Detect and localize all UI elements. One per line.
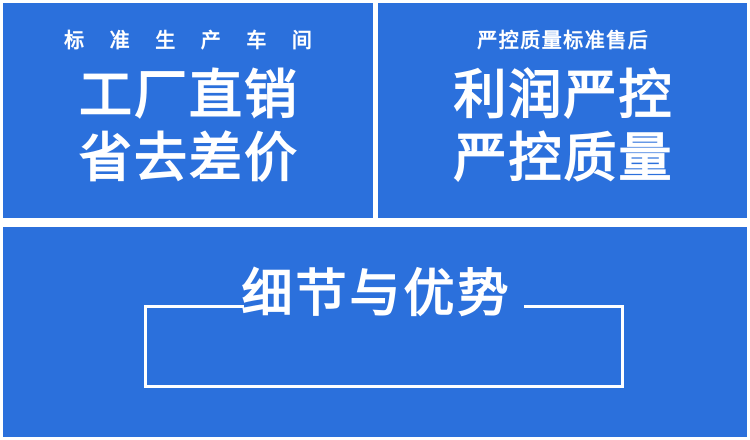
panel-left-headline-line2: 省去差价 — [77, 130, 299, 187]
panel-quality-control: 严控质量标准售后 利润严控 严控质量 — [378, 3, 747, 218]
detail-title: 细节与优势 — [3, 268, 747, 319]
panel-right-headline-line1: 利润严控 — [452, 67, 674, 124]
panel-left-eyebrow: 标 准 生 产 车 间 — [54, 31, 322, 51]
panel-left-headline-line1: 工厂直销 — [77, 67, 299, 124]
panel-factory-direct: 标 准 生 产 车 间 工厂直销 省去差价 — [3, 3, 373, 218]
promo-banner: 标 准 生 产 车 间 工厂直销 省去差价 严控质量标准售后 利润严控 严控质量… — [0, 0, 750, 440]
panel-right-headline-line2: 严控质量 — [452, 130, 674, 187]
frame-bottom-edge — [144, 385, 624, 388]
panel-right-eyebrow: 严控质量标准售后 — [476, 31, 650, 51]
panel-details-advantages: 细节与优势 不怕货比，就怕不识货 — [3, 227, 747, 437]
